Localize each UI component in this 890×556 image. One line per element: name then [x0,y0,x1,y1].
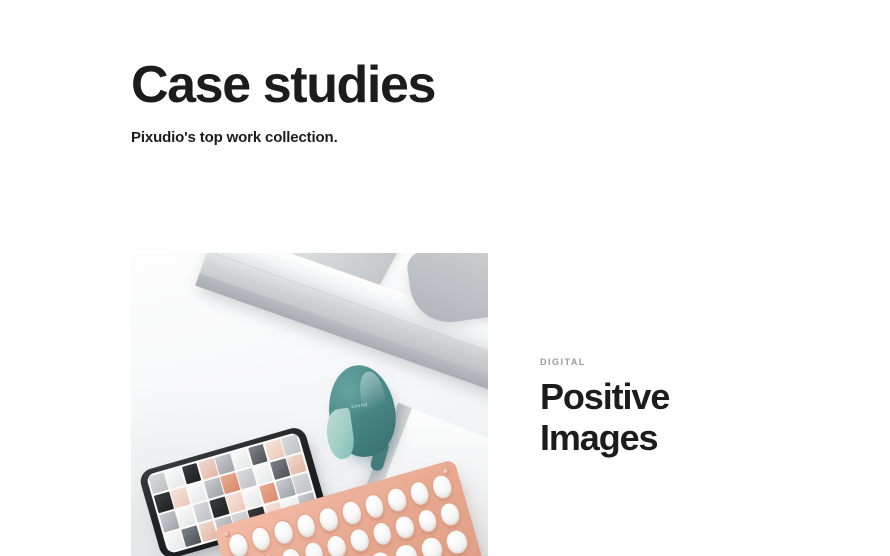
case-study-caption: DIGITAL Positive Images [540,357,840,456]
keycap [429,472,455,501]
case-study-title-line-1: Positive [540,379,840,415]
keycap [384,485,410,514]
keycap [271,518,297,547]
keycap [417,534,445,556]
case-study-item[interactable]: sound [0,253,890,556]
case-study-category: DIGITAL [540,357,840,367]
screen-thumbnail [281,434,301,456]
keycap [316,505,342,534]
page-subtitle: Pixudio's top work collection. [131,129,731,146]
keycap [437,500,463,529]
case-study-title-line-2: Images [540,420,840,456]
keycap [248,524,274,553]
page-root: Case studies Pixudio's top work collecti… [0,0,890,556]
keycap [415,506,441,535]
keycap [443,527,471,556]
keycap [392,513,418,542]
keycap [301,539,327,556]
keycap [369,519,395,548]
keycap [392,541,420,556]
keycap [339,498,365,527]
keycap [293,511,319,540]
case-study-image[interactable]: sound [131,253,488,556]
case-study-title[interactable]: Positive Images [540,379,840,456]
page-header: Case studies Pixudio's top work collecti… [131,58,731,146]
page-title: Case studies [131,58,731,113]
desk-photo: sound [131,253,488,556]
screen-thumbnail [292,473,312,495]
teal-speaker: sound [327,365,399,469]
screen-thumbnail [287,453,307,475]
keycap [407,479,433,508]
keycap [324,532,350,556]
keycap [367,549,395,556]
keycap [347,526,373,555]
keycap [256,552,282,556]
keycap [361,492,387,521]
keycap [279,545,305,556]
